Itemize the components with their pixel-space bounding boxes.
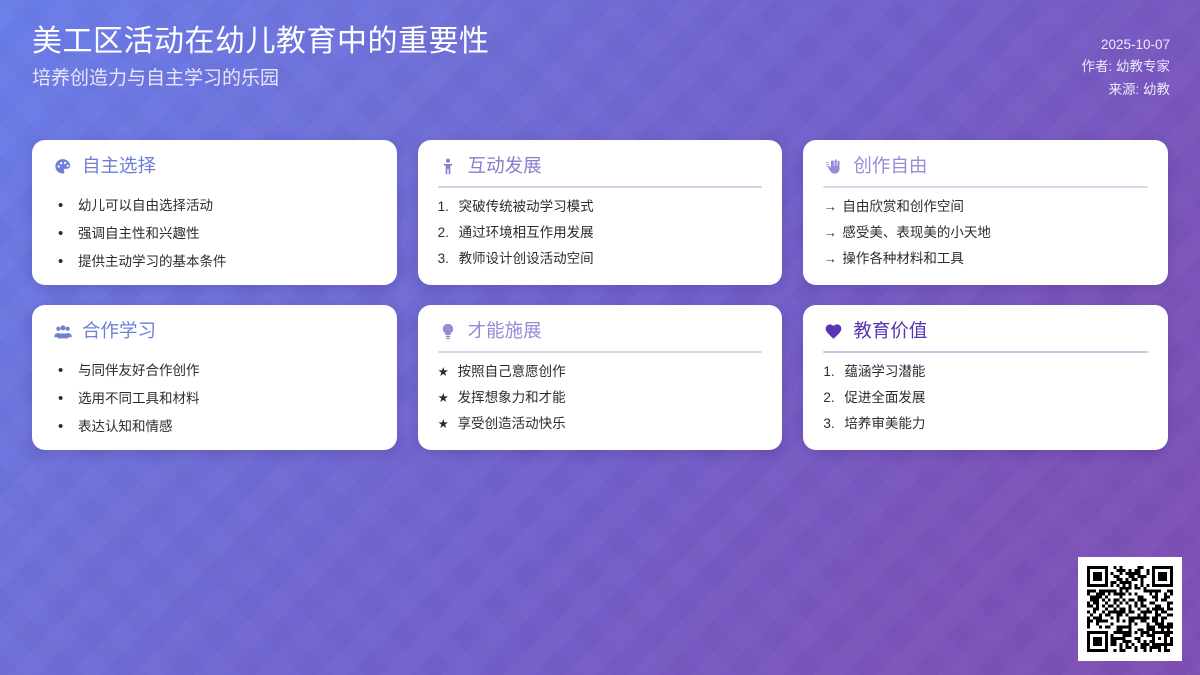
card-divider: [438, 186, 763, 188]
header-title-block: 美工区活动在幼儿教育中的重要性 培养创造力与自主学习的乐园: [32, 24, 490, 91]
list-item-text: 蕴涵学习潜能: [844, 364, 925, 381]
card-divider: [823, 186, 1148, 188]
list-item: ★按照自己意愿创作: [438, 364, 763, 381]
list-item: 1.蕴涵学习潜能: [823, 364, 1148, 381]
card-header: 合作学习: [52, 321, 377, 351]
card-item-list: 1.突破传统被动学习模式2.通过环境相互作用发展3.教师设计创设活动空间: [438, 199, 763, 268]
card-title: 才能施展: [468, 322, 542, 341]
list-item: •提供主动学习的基本条件: [52, 253, 377, 272]
meta-author: 作者: 幼教专家: [1081, 56, 1170, 78]
meta-source: 来源: 幼教: [1081, 79, 1170, 101]
card-title: 互动发展: [468, 157, 542, 176]
list-item-text: 表达认知和情感: [78, 419, 173, 436]
feature-card: 创作自由→自由欣赏和创作空间→感受美、表现美的小天地→操作各种材料和工具: [803, 140, 1168, 285]
card-item-list: ★按照自己意愿创作★发挥想象力和才能★享受创造活动快乐: [438, 364, 763, 433]
card-header: 才能施展: [438, 321, 763, 351]
list-marker: →: [823, 225, 842, 242]
list-item-text: 享受创造活动快乐: [458, 416, 566, 433]
list-marker: •: [52, 253, 78, 272]
list-item-text: 促进全面发展: [844, 390, 925, 407]
list-item: 1.突破传统被动学习模式: [438, 199, 763, 216]
list-item-text: 提供主动学习的基本条件: [78, 254, 227, 271]
card-header: 创作自由: [823, 156, 1148, 186]
list-marker: 1.: [823, 364, 844, 381]
list-marker: •: [52, 225, 78, 244]
heart-icon: [823, 321, 844, 342]
feature-card: 合作学习•与同伴友好合作创作•选用不同工具和材料•表达认知和情感: [32, 305, 397, 450]
header-meta: 2025-10-07 作者: 幼教专家 来源: 幼教: [1081, 24, 1170, 101]
card-grid: 自主选择•幼儿可以自由选择活动•强调自主性和兴趣性•提供主动学习的基本条件互动发…: [32, 140, 1168, 450]
list-marker: 2.: [438, 225, 459, 242]
child-icon: [438, 156, 459, 177]
card-item-list: 1.蕴涵学习潜能2.促进全面发展3.培养审美能力: [823, 364, 1148, 433]
list-marker: 3.: [438, 251, 459, 268]
list-item: 3.培养审美能力: [823, 416, 1148, 433]
list-item: 2.通过环境相互作用发展: [438, 225, 763, 242]
list-marker: ★: [438, 365, 458, 381]
list-item: •表达认知和情感: [52, 418, 377, 437]
card-item-list: •与同伴友好合作创作•选用不同工具和材料•表达认知和情感: [52, 362, 377, 436]
palette-icon: [52, 156, 73, 177]
feature-card: 自主选择•幼儿可以自由选择活动•强调自主性和兴趣性•提供主动学习的基本条件: [32, 140, 397, 285]
page-subtitle: 培养创造力与自主学习的乐园: [32, 68, 490, 91]
lightbulb-icon: [438, 321, 459, 342]
card-title: 自主选择: [82, 157, 156, 176]
card-header: 自主选择: [52, 156, 377, 186]
list-item-text: 操作各种材料和工具: [842, 251, 964, 268]
list-item-text: 感受美、表现美的小天地: [842, 225, 991, 242]
list-marker: 2.: [823, 390, 844, 407]
list-marker: ★: [438, 391, 458, 407]
card-title: 教育价值: [853, 322, 927, 341]
qr-code-image: [1087, 566, 1173, 652]
list-item: →感受美、表现美的小天地: [823, 225, 1148, 242]
card-title: 创作自由: [853, 157, 927, 176]
list-item: ★发挥想象力和才能: [438, 390, 763, 407]
feature-card: 才能施展★按照自己意愿创作★发挥想象力和才能★享受创造活动快乐: [418, 305, 783, 450]
list-item-text: 强调自主性和兴趣性: [78, 226, 200, 243]
list-item: ★享受创造活动快乐: [438, 416, 763, 433]
list-marker: •: [52, 418, 78, 437]
list-item-text: 自由欣赏和创作空间: [842, 199, 964, 216]
card-divider: [823, 351, 1148, 353]
list-item: →自由欣赏和创作空间: [823, 199, 1148, 216]
list-item-text: 培养审美能力: [844, 416, 925, 433]
people-group-icon: [52, 321, 73, 342]
list-item: 3.教师设计创设活动空间: [438, 251, 763, 268]
list-item: •强调自主性和兴趣性: [52, 225, 377, 244]
list-item: •选用不同工具和材料: [52, 390, 377, 409]
list-item: •幼儿可以自由选择活动: [52, 197, 377, 216]
card-divider: [438, 351, 763, 353]
list-item-text: 教师设计创设活动空间: [459, 251, 594, 268]
list-item: 2.促进全面发展: [823, 390, 1148, 407]
card-title: 合作学习: [82, 322, 156, 341]
list-marker: 3.: [823, 416, 844, 433]
list-marker: →: [823, 251, 842, 268]
list-item-text: 通过环境相互作用发展: [459, 225, 594, 242]
list-marker: ★: [438, 417, 458, 433]
list-item-text: 发挥想象力和才能: [458, 390, 566, 407]
slide-canvas: 美工区活动在幼儿教育中的重要性 培养创造力与自主学习的乐园 2025-10-07…: [0, 0, 1200, 675]
list-item: →操作各种材料和工具: [823, 251, 1148, 268]
list-marker: →: [823, 199, 842, 216]
page-title: 美工区活动在幼儿教育中的重要性: [32, 24, 490, 59]
list-marker: •: [52, 362, 78, 381]
slide-header: 美工区活动在幼儿教育中的重要性 培养创造力与自主学习的乐园 2025-10-07…: [0, 0, 1200, 118]
raised-hand-icon: [823, 156, 844, 177]
list-marker: •: [52, 390, 78, 409]
meta-date: 2025-10-07: [1081, 34, 1170, 56]
list-marker: •: [52, 197, 78, 216]
feature-card: 教育价值1.蕴涵学习潜能2.促进全面发展3.培养审美能力: [803, 305, 1168, 450]
qr-code[interactable]: [1078, 557, 1182, 661]
list-item-text: 选用不同工具和材料: [78, 391, 200, 408]
card-header: 互动发展: [438, 156, 763, 186]
list-item: •与同伴友好合作创作: [52, 362, 377, 381]
list-item-text: 突破传统被动学习模式: [459, 199, 594, 216]
list-item-text: 幼儿可以自由选择活动: [78, 198, 213, 215]
list-item-text: 与同伴友好合作创作: [78, 363, 200, 380]
card-item-list: •幼儿可以自由选择活动•强调自主性和兴趣性•提供主动学习的基本条件: [52, 197, 377, 271]
feature-card: 互动发展1.突破传统被动学习模式2.通过环境相互作用发展3.教师设计创设活动空间: [418, 140, 783, 285]
list-item-text: 按照自己意愿创作: [458, 364, 566, 381]
card-header: 教育价值: [823, 321, 1148, 351]
list-marker: 1.: [438, 199, 459, 216]
card-item-list: →自由欣赏和创作空间→感受美、表现美的小天地→操作各种材料和工具: [823, 199, 1148, 268]
